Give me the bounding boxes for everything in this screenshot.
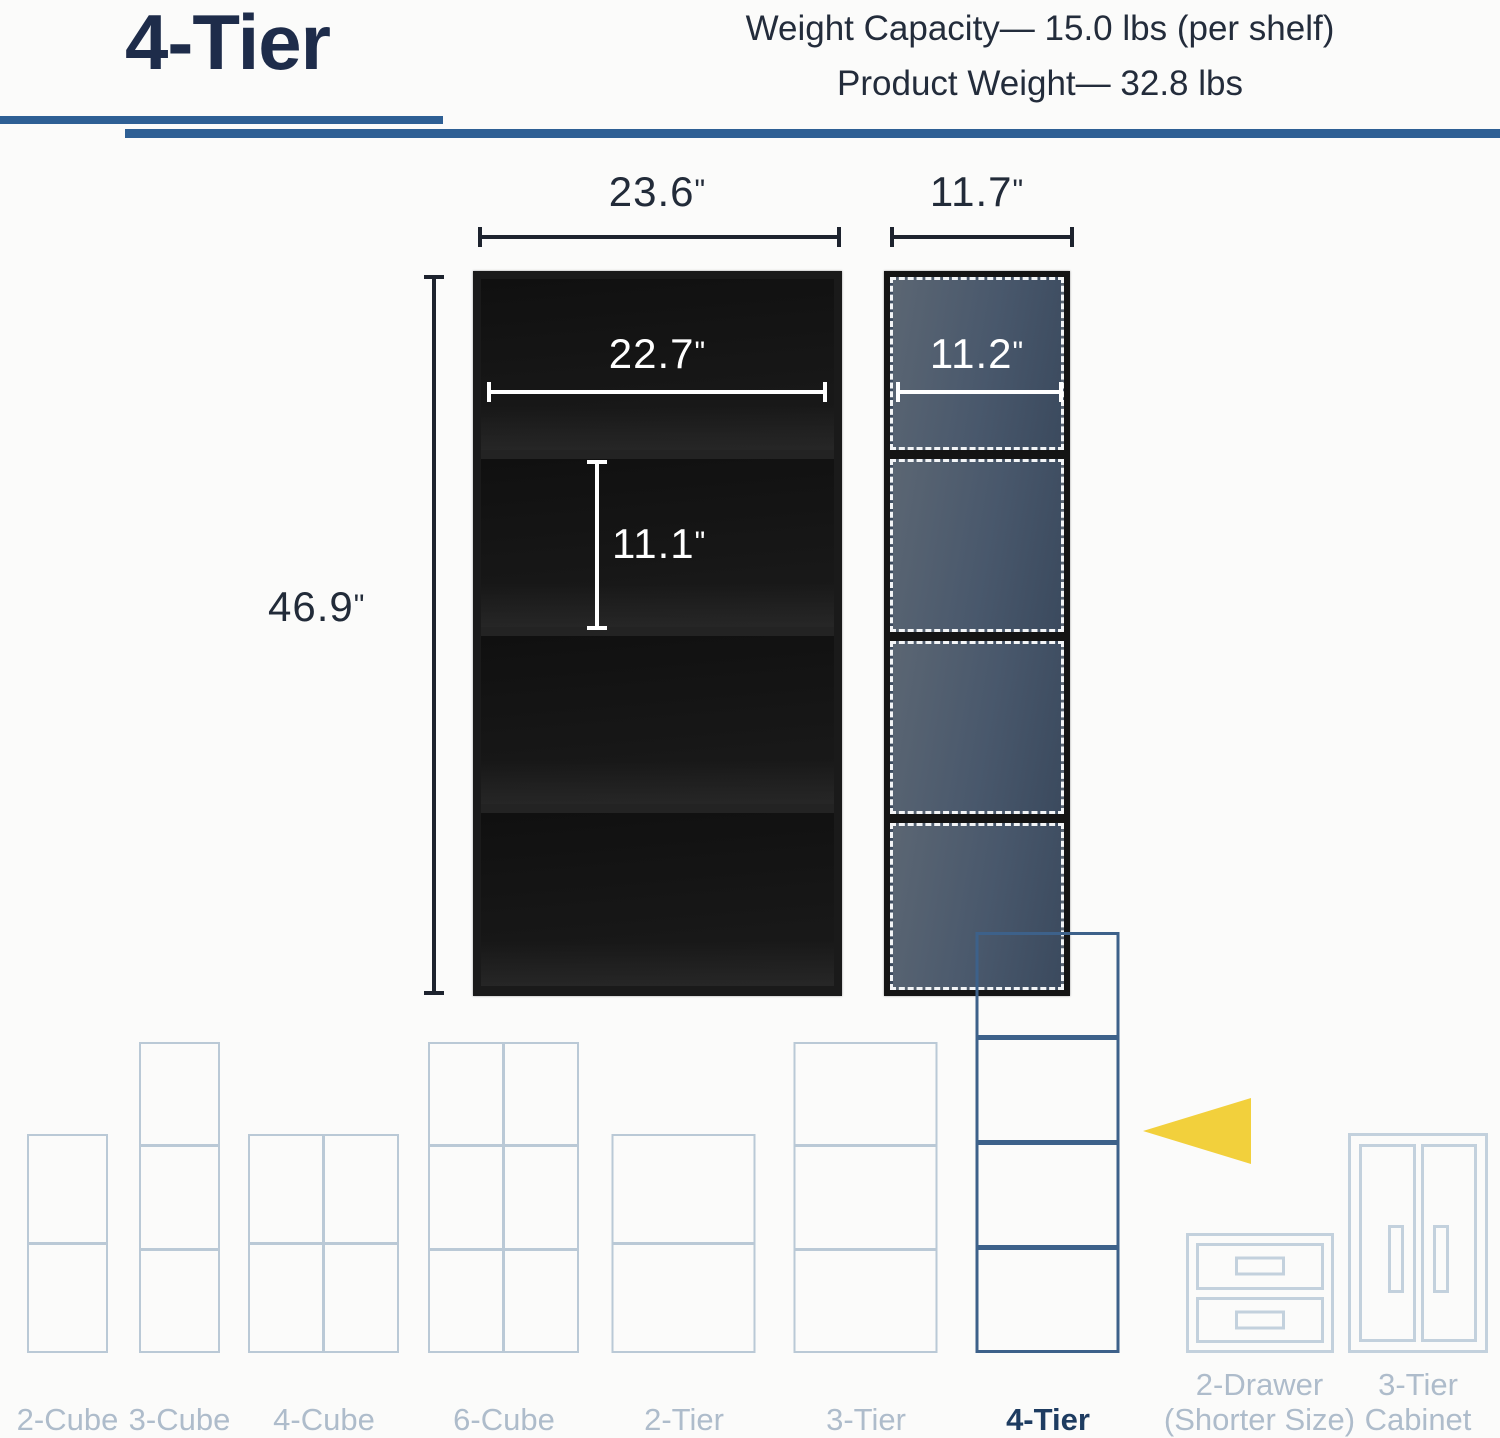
product-weight-spec: Product Weight— 32.8 lbs	[640, 57, 1440, 112]
overall-height-dimension-label: 46.9"	[268, 583, 365, 631]
grid-4-cube-icon	[249, 1135, 399, 1353]
bookcase-front-view	[473, 271, 842, 996]
variant-option-4-tier[interactable]: 4-Tier	[972, 1070, 1124, 1438]
variant-label: 4-Tier	[943, 1402, 1153, 1438]
drawer	[1196, 1243, 1324, 1290]
overall-height-dimension-line	[432, 275, 436, 995]
header-divider-top	[0, 116, 443, 124]
shelf-height-dimension-line	[595, 460, 599, 630]
variant-option-2-cube[interactable]: 2-Cube	[10, 1070, 125, 1438]
variant-label: 4-Cube	[219, 1402, 429, 1438]
front-width-dimension-line	[478, 235, 841, 239]
side-depth-dimension-line	[890, 235, 1074, 239]
grid-2-tier-icon	[613, 1135, 756, 1353]
weight-capacity-spec: Weight Capacity— 15.0 lbs (per shelf)	[640, 2, 1440, 57]
shelf-bay	[481, 636, 834, 813]
inner-width-dimension-label: 22.7"	[473, 330, 842, 378]
shelf-height-dimension-label: 11.1"	[612, 520, 706, 568]
variant-option-4-cube[interactable]: 4-Cube	[248, 1070, 400, 1438]
variant-option-3-tier-cabinet[interactable]: 3-Tier Cabinet	[1338, 1070, 1498, 1438]
front-width-dimension-label: 23.6"	[473, 168, 842, 216]
grid-3-cube-icon	[140, 1043, 220, 1353]
bookcase-side-view	[884, 271, 1070, 996]
variant-option-2-tier[interactable]: 2-Tier	[608, 1070, 760, 1438]
page-title: 4-Tier	[125, 0, 330, 88]
variant-option-3-cube[interactable]: 3-Cube	[122, 1070, 237, 1438]
grid-3-tier-icon	[795, 1043, 938, 1353]
spec-block: Weight Capacity— 15.0 lbs (per shelf) Pr…	[640, 2, 1440, 112]
header-divider-bottom	[125, 129, 1500, 138]
drawer	[1196, 1297, 1324, 1344]
inner-depth-dimension-line	[896, 390, 1063, 394]
three-tier-cabinet-icon	[1348, 1133, 1488, 1353]
variant-option-6-cube[interactable]: 6-Cube	[428, 1070, 580, 1438]
two-drawer-chest-icon	[1186, 1233, 1334, 1353]
side-panel	[890, 641, 1064, 814]
grid-6-cube-icon	[429, 1043, 579, 1353]
selection-pointer-arrow-icon	[1143, 1098, 1251, 1164]
side-depth-dimension-label: 11.7"	[884, 168, 1070, 216]
variant-selector-strip: 2-Cube 3-Cube 4-Cube 6-Cube 2-Tier 3-Tie…	[0, 1070, 1500, 1438]
variant-option-3-tier[interactable]: 3-Tier	[790, 1070, 942, 1438]
cabinet-door-left	[1359, 1144, 1416, 1342]
shelf-bay	[481, 813, 834, 986]
grid-2-cube-icon	[28, 1135, 108, 1353]
grid-4-tier-icon	[977, 933, 1120, 1353]
variant-label: 3-Tier Cabinet	[1313, 1367, 1500, 1438]
variant-label: 6-Cube	[399, 1402, 609, 1438]
side-panel	[890, 459, 1064, 632]
header: 4-Tier Weight Capacity— 15.0 lbs (per sh…	[0, 0, 1500, 140]
dimension-diagram: 23.6" 11.7" 46.9" 22.7" 11.1" 11.2"	[0, 140, 1500, 1070]
inner-width-dimension-line	[487, 390, 827, 394]
variant-label: 3-Tier	[761, 1402, 971, 1438]
variant-label: 2-Tier	[579, 1402, 789, 1438]
cabinet-door-right	[1421, 1144, 1478, 1342]
bookcase-carcass	[481, 279, 834, 986]
inner-depth-dimension-label: 11.2"	[884, 330, 1070, 378]
